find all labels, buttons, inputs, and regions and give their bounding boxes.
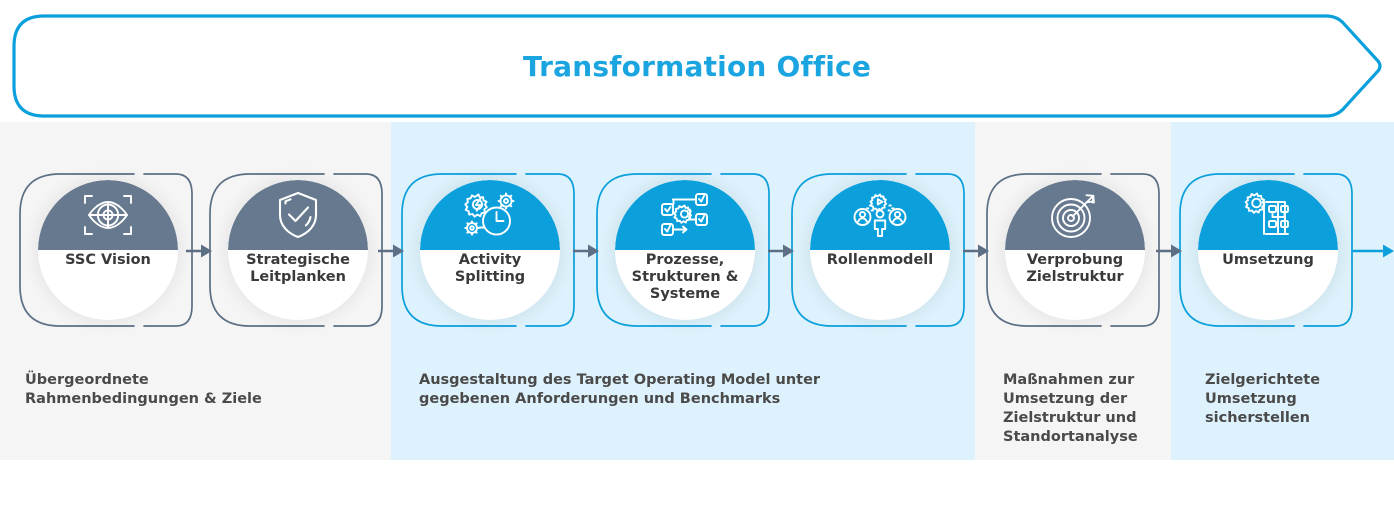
step-circle: Prozesse, Strukturen & Systeme (615, 180, 755, 320)
caption-zielgerichtete-umsetzung: Zielgerichtete Umsetzung sicherstellen (1205, 371, 1320, 428)
step-label: Umsetzung (1198, 252, 1338, 269)
arrow-leitplanken-to-activity (378, 243, 404, 259)
arrow-ssc-to-leitplanken (186, 243, 212, 259)
arrow-umsetzung-out (1352, 243, 1394, 259)
process-step-verprobung-zielstruktur[interactable]: Verprobung Zielstruktur (983, 170, 1163, 330)
process-step-umsetzung[interactable]: Umsetzung (1176, 170, 1356, 330)
step-label: Rollenmodell (810, 252, 950, 269)
step-label: Strategische Leitplanken (228, 252, 368, 286)
step-circle: Rollenmodell (810, 180, 950, 320)
caption-target-operating-model: Ausgestaltung des Target Operating Model… (419, 371, 820, 409)
arrow-verprobung-to-umsetzung (1156, 243, 1182, 259)
step-label: Prozesse, Strukturen & Systeme (615, 252, 755, 303)
step-label: SSC Vision (38, 252, 178, 269)
step-circle: Verprobung Zielstruktur (1005, 180, 1145, 320)
process-diagram: Transformation Office SSC Vision Strateg… (0, 0, 1394, 526)
arrow-activity-to-prozesse (573, 243, 599, 259)
step-circle: Umsetzung (1198, 180, 1338, 320)
step-label: Activity Splitting (420, 252, 560, 286)
caption-massnahmen: Maßnahmen zur Umsetzung der Zielstruktur… (1003, 371, 1138, 448)
process-step-rollenmodell[interactable]: Rollenmodell (788, 170, 968, 330)
transformation-office-banner (8, 14, 1386, 118)
step-circle: Activity Splitting (420, 180, 560, 320)
arrow-rollen-to-verprobung (963, 243, 989, 259)
arrow-prozesse-to-rollen (768, 243, 794, 259)
process-step-prozesse-strukturen-systeme[interactable]: Prozesse, Strukturen & Systeme (593, 170, 773, 330)
process-step-strategische-leitplanken[interactable]: Strategische Leitplanken (206, 170, 386, 330)
step-circle: SSC Vision (38, 180, 178, 320)
step-circle: Strategische Leitplanken (228, 180, 368, 320)
step-label: Verprobung Zielstruktur (1005, 252, 1145, 286)
process-step-activity-splitting[interactable]: Activity Splitting (398, 170, 578, 330)
process-step-ssc-vision[interactable]: SSC Vision (16, 170, 196, 330)
caption-rahmenbedingungen: Übergeordnete Rahmenbedingungen & Ziele (25, 371, 262, 409)
